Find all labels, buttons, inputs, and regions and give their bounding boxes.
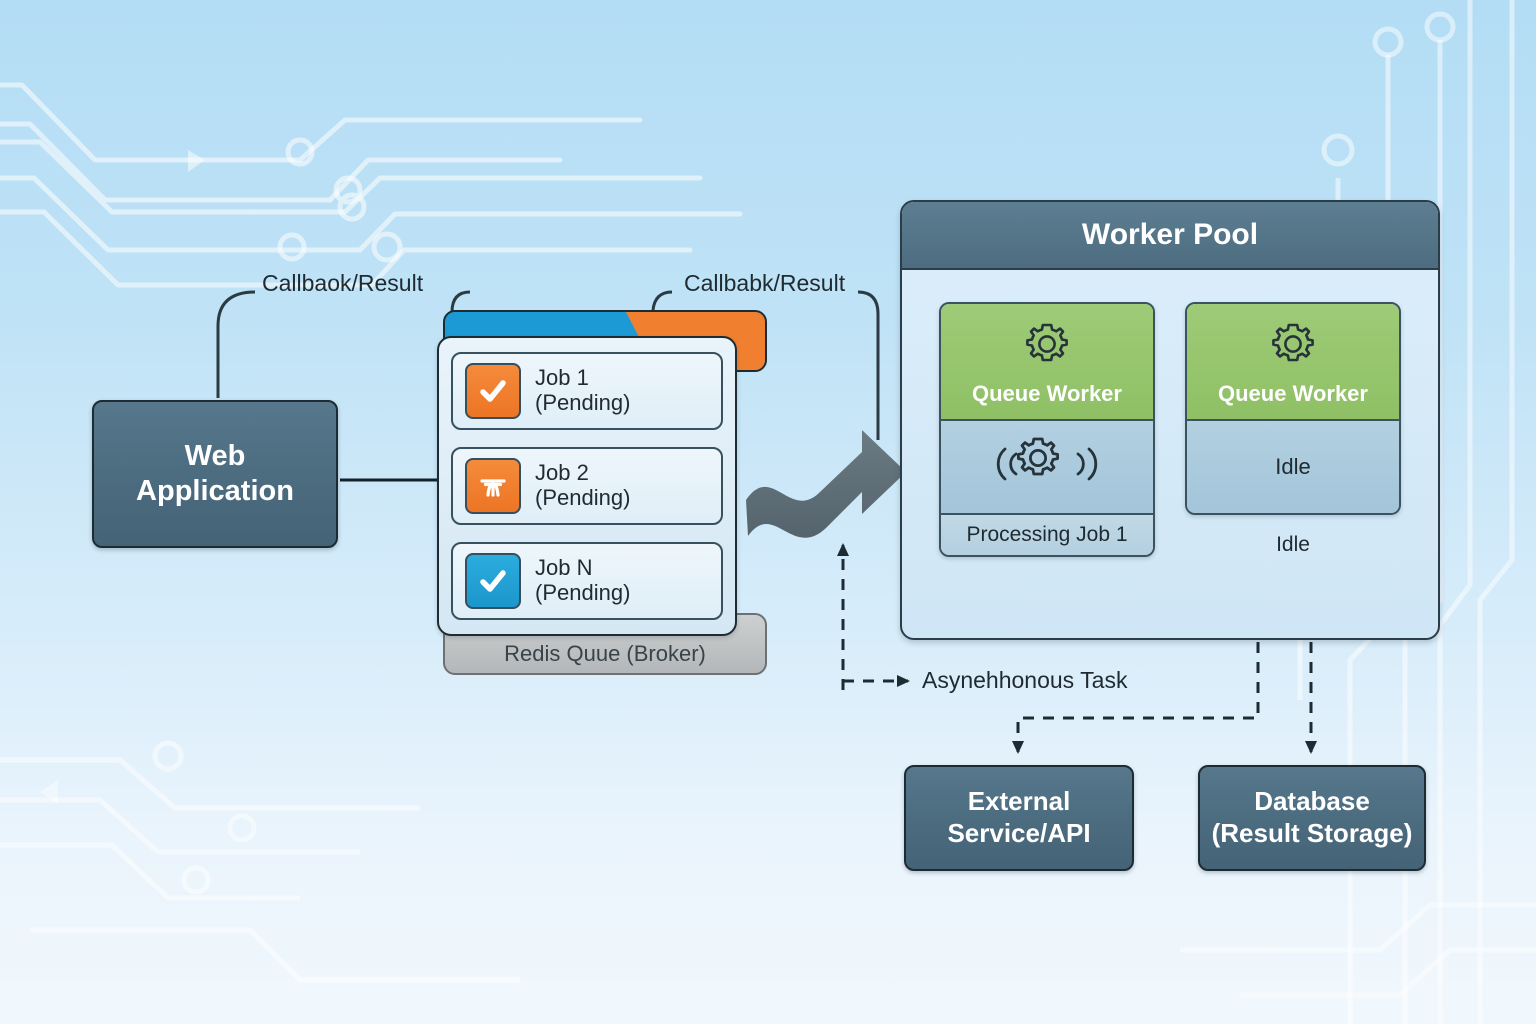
callback-right-line <box>858 292 878 440</box>
worker-pool-title: Worker Pool <box>902 202 1438 270</box>
worker-status: Processing Job 1 <box>941 513 1153 555</box>
check-icon <box>465 553 521 609</box>
worker-label: Queue Worker <box>1218 381 1368 407</box>
job-row[interactable]: Job 2 (Pending) <box>451 447 723 525</box>
database-line1: Database <box>1212 786 1413 818</box>
gear-icon <box>1021 318 1073 375</box>
label-async-task: Asynehhonous Task <box>922 667 1127 694</box>
gear-active-icon <box>987 433 1107 501</box>
job-title: Job N <box>535 556 630 581</box>
queue-footer-label: Redis Quue (Broker) <box>504 641 706 667</box>
label-callback-right: Callbabk/Result <box>684 270 845 297</box>
web-application-box[interactable]: Web Application <box>92 400 338 548</box>
worker-column: Queue Worker <box>939 302 1155 557</box>
worker-caption: Idle <box>1276 533 1310 557</box>
external-service-box[interactable]: External Service/API <box>904 765 1134 871</box>
worker-header: Queue Worker <box>941 304 1153 421</box>
callback-right-left-hook <box>653 292 672 310</box>
label-callback-left: Callbaok/Result <box>262 270 423 297</box>
worker-body <box>941 421 1153 513</box>
worker-card[interactable]: Queue Worker Idle <box>1185 302 1401 515</box>
worker-card[interactable]: Queue Worker <box>939 302 1155 557</box>
redis-queue-group: Redis Quue (Broker) Job 1 (Pending) <box>437 310 773 675</box>
web-application-line2: Application <box>136 474 294 509</box>
job-status: (Pending) <box>535 391 630 416</box>
job-status: (Pending) <box>535 581 630 606</box>
check-icon <box>465 363 521 419</box>
job-row[interactable]: Job N (Pending) <box>451 542 723 620</box>
worker-column: Queue Worker Idle Idle <box>1185 302 1401 557</box>
external-service-line1: External <box>947 786 1090 818</box>
callback-left-right-hook <box>452 292 470 312</box>
job-title: Job 2 <box>535 461 630 486</box>
database-line2: (Result Storage) <box>1212 818 1413 850</box>
job-title: Job 1 <box>535 366 630 391</box>
job-status: (Pending) <box>535 486 630 511</box>
queue-job-list: Job 1 (Pending) Job 2 (Pending) <box>437 336 737 636</box>
database-box[interactable]: Database (Result Storage) <box>1198 765 1426 871</box>
web-application-line1: Web <box>136 439 294 474</box>
worker-label: Queue Worker <box>972 381 1122 407</box>
worker-pool-panel: Worker Pool Queue Worker <box>900 200 1440 640</box>
diagram-canvas: Callbaok/Result Callbabk/Result Asynehho… <box>0 0 1536 1024</box>
gear-icon <box>1267 318 1319 375</box>
dashed-to-external-service <box>1018 642 1258 752</box>
worker-header: Queue Worker <box>1187 304 1399 421</box>
torii-icon <box>465 458 521 514</box>
worker-body: Idle <box>1187 421 1399 513</box>
external-service-line2: Service/API <box>947 818 1090 850</box>
job-row[interactable]: Job 1 (Pending) <box>451 352 723 430</box>
callback-left-line <box>218 292 255 398</box>
